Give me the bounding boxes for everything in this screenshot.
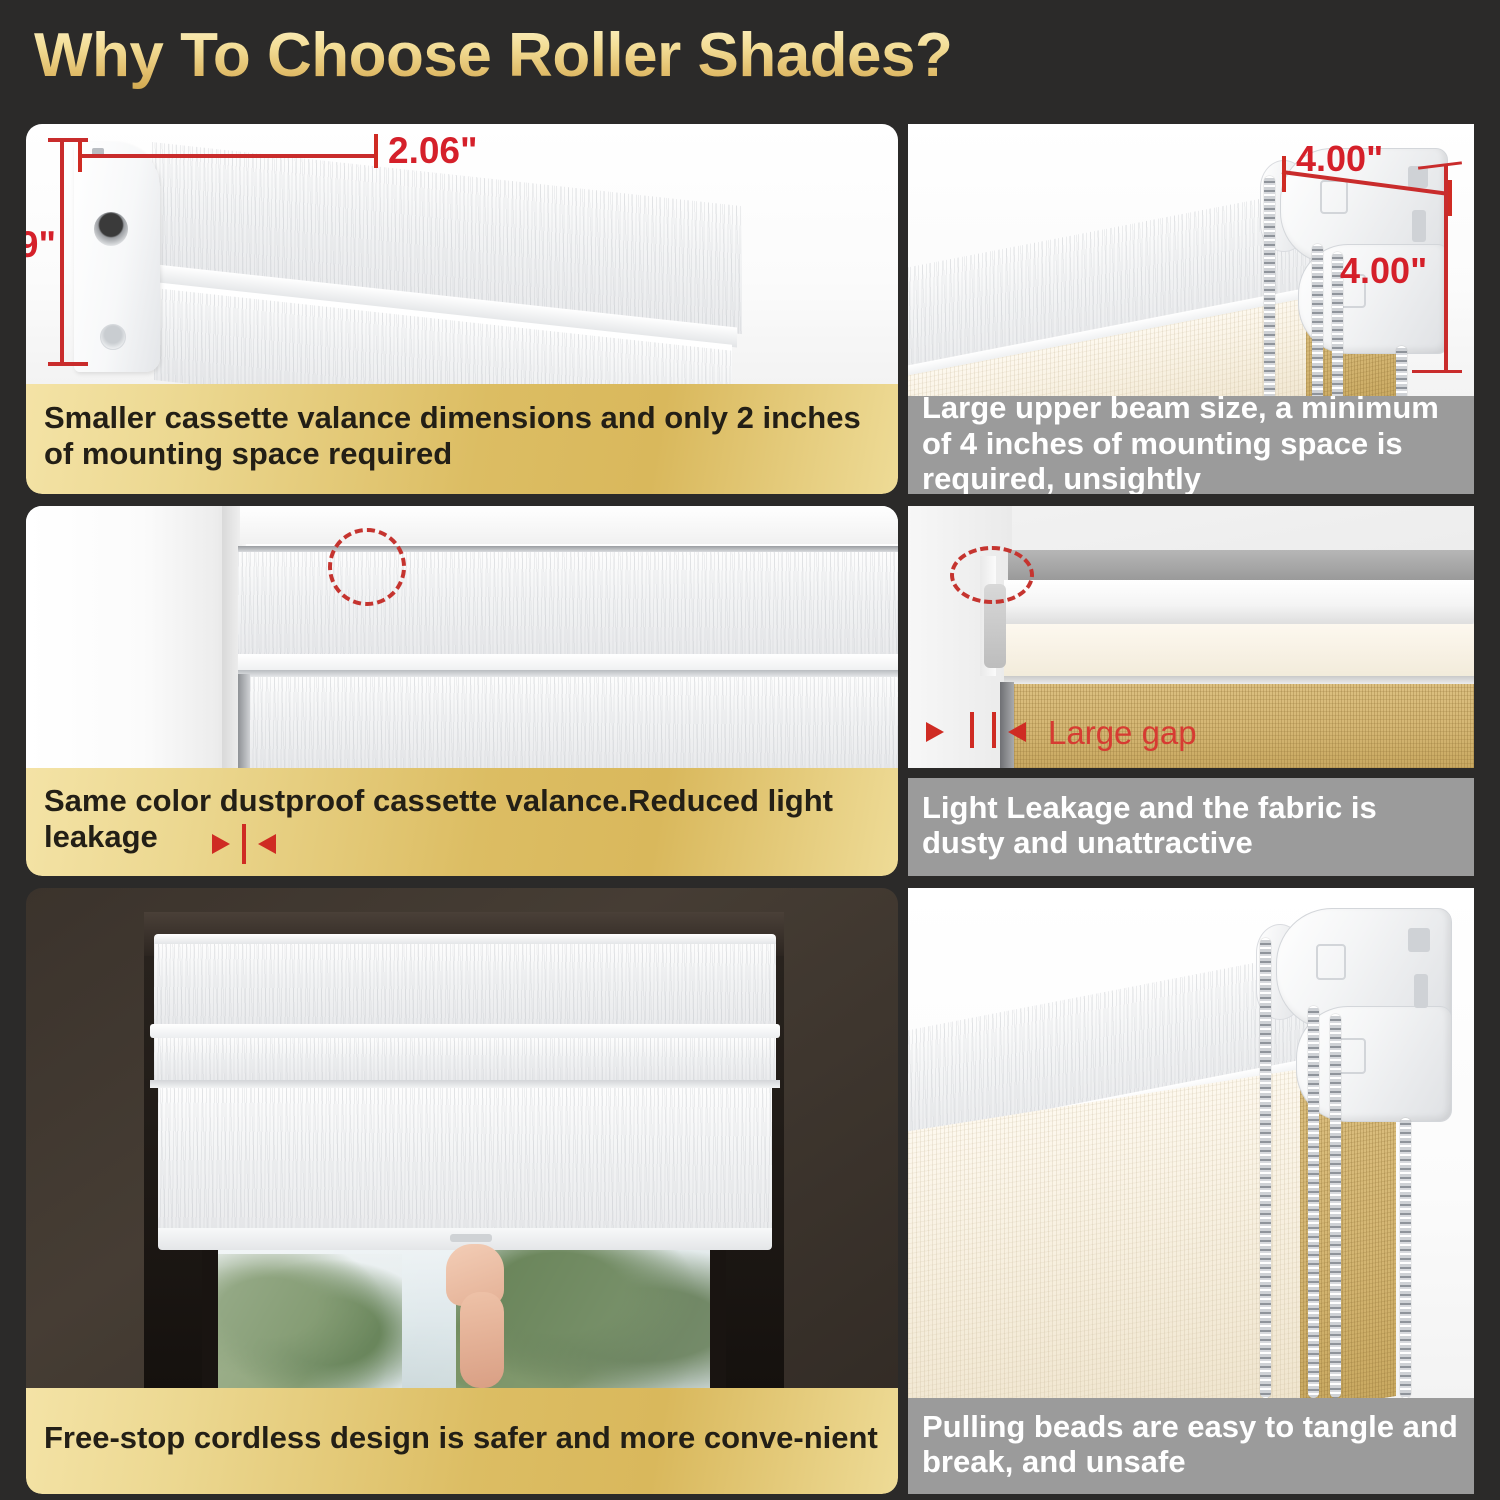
bead-chain-front[interactable] (1260, 938, 1271, 1398)
cassette-lower-lip (150, 1024, 780, 1038)
width-dim-line (78, 154, 378, 158)
beam-height-dimension-label: 4.00" (1340, 250, 1427, 292)
caption-con-beam-size: Large upper beam size, a minimum of 4 in… (908, 396, 1474, 494)
end-cap-bearing-icon (94, 212, 128, 246)
roller-shadow-line (238, 670, 898, 677)
panel-pro-cassette-size: 2.06" 5.49" Smaller cassette valance dim… (26, 124, 898, 494)
height-dim-cap-top (48, 138, 88, 142)
panel-con-light-leakage: Large gap Light Leakage and the fabric i… (908, 506, 1474, 876)
valance-under-shadow (1004, 676, 1474, 684)
caption-text: Free-stop cordless design is safer and m… (44, 1420, 878, 1456)
large-gap-label: Large gap (1048, 714, 1197, 752)
panel-photo-cassette-valance: 2.06" 5.49" (26, 124, 898, 384)
panel-pro-smaller-gap: smaller gap Same color dustproof cassett… (26, 506, 898, 876)
panel-photo-bead-chains (908, 888, 1474, 1398)
bracket-slot-mid (1412, 210, 1426, 242)
width-dim-tick-left (78, 138, 82, 172)
end-cap-screw-icon (100, 324, 126, 350)
cream-valance-face (1004, 624, 1474, 678)
panel-photo-window-room (26, 888, 898, 1388)
caption-pro-cordless: Free-stop cordless design is safer and m… (26, 1388, 898, 1494)
window-frame-left (26, 506, 240, 768)
hand-forearm (460, 1292, 504, 1388)
gap-highlight-circle (328, 528, 406, 606)
bracket-emblem-top-icon (1316, 944, 1346, 980)
beam-height-dim-line (1444, 164, 1448, 372)
valance-bottom-edge (238, 654, 898, 670)
shade-fabric-main (158, 1088, 772, 1240)
panel-pro-cordless: Free-stop cordless design is safer and m… (26, 888, 898, 1494)
cassette-valance (154, 944, 776, 1026)
bottom-rail-handle (450, 1234, 492, 1242)
window-mullion-right (710, 1228, 726, 1388)
comparison-grid: 2.06" 5.49" Smaller cassette valance dim… (0, 118, 1500, 1500)
panel-photo-smaller-gap: smaller gap (26, 506, 898, 768)
bead-chain-mid[interactable] (1308, 1006, 1319, 1398)
bead-chain-mid (1312, 244, 1323, 396)
bracket-slot-mid (1414, 974, 1428, 1008)
caption-text: Large upper beam size, a minimum of 4 in… (922, 390, 1460, 494)
caption-text: Smaller cassette valance dimensions and … (44, 400, 880, 471)
panel-con-pulling-beads: Pulling beads are easy to tangle and bre… (908, 888, 1474, 1494)
height-dim-cap-bottom (48, 362, 88, 366)
height-dim-line (60, 138, 64, 366)
caption-text: Same color dustproof cassette valance.Re… (44, 783, 880, 854)
bracket-slot-top (1408, 928, 1430, 952)
caption-pro-cassette-size: Smaller cassette valance dimensions and … (26, 384, 898, 494)
height-dimension-label: 5.49" (26, 224, 56, 266)
panel-photo-large-beam: 4.00" 4.00" (908, 124, 1474, 396)
beam-width-tick-right (1448, 180, 1452, 216)
beam-width-tick-left (1282, 156, 1286, 192)
caption-con-pulling-beads: Pulling beads are easy to tangle and bre… (908, 1398, 1474, 1494)
page-title: Why To Choose Roller Shades? (34, 20, 952, 91)
bead-chain-tail (1396, 346, 1407, 396)
shade-left-edge-gap (238, 674, 250, 768)
header-bar: Why To Choose Roller Shades? (0, 0, 1500, 118)
large-gap-shadow (1000, 682, 1014, 768)
caption-con-light-leakage: Light Leakage and the fabric is dusty an… (908, 778, 1474, 876)
panel-photo-large-gap: Large gap (908, 506, 1474, 768)
beam-height-cap-bottom (1412, 370, 1462, 373)
beam-width-dimension-label: 4.00" (1296, 138, 1383, 180)
bead-chain-rear[interactable] (1330, 1014, 1341, 1398)
shade-roll-shadow (150, 1080, 780, 1088)
panel-con-beam-size: 4.00" 4.00" Large upper beam size, a min… (908, 124, 1474, 494)
width-dim-tick-right (374, 134, 378, 168)
width-dimension-label: 2.06" (388, 130, 478, 172)
bead-chain-tail[interactable] (1400, 1118, 1411, 1398)
window-mullion-left (202, 1228, 218, 1388)
caption-text: Light Leakage and the fabric is dusty an… (922, 790, 1460, 860)
caption-pro-smaller-gap: Same color dustproof cassette valance.Re… (26, 768, 898, 876)
gap-highlight-ellipse (950, 546, 1034, 604)
cassette-top-cap (154, 934, 776, 944)
shade-fabric-body (242, 677, 898, 768)
shade-roll-visible (154, 1038, 776, 1082)
bracket-emblem-top-icon (1320, 180, 1348, 214)
mounting-bracket-lower (1296, 1006, 1452, 1122)
caption-text: Pulling beads are easy to tangle and bre… (922, 1409, 1460, 1479)
bead-chain-front (1264, 176, 1275, 396)
valance-rail (1004, 580, 1474, 626)
